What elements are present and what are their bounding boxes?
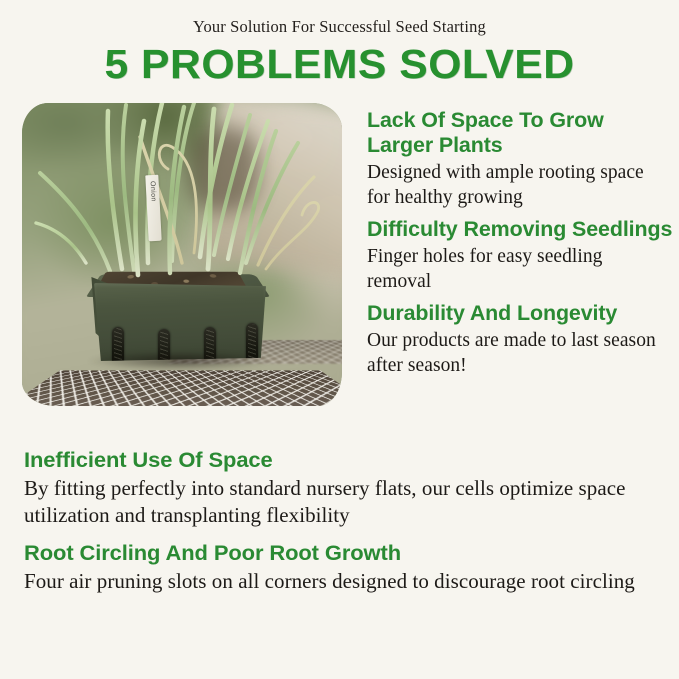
background-shadow [188,127,258,212]
benefit-heading: Root Circling And Poor Root Growth [24,540,673,566]
benefit-heading: Durability And Longevity [367,301,673,326]
benefit-body: Designed with ample rooting space for he… [367,160,667,210]
benefit-body: By fitting perfectly into standard nurse… [24,475,660,529]
eyebrow-tagline: Your Solution For Successful Seed Starti… [0,17,679,37]
cell-tray [80,253,276,375]
tray-front-face [94,283,266,361]
benefits-bottom-column: Inefficient Use Of Space By fitting perf… [24,447,660,606]
photo-frame: Onion [22,103,342,406]
benefit-body: Four air pruning slots on all corners de… [24,568,660,595]
benefit-item: Inefficient Use Of Space By fitting perf… [24,447,660,529]
benefit-heading: Lack Of Space To Grow Larger Plants [367,108,673,158]
benefit-item: Durability And Longevity Our products ar… [367,301,667,378]
header: Your Solution For Successful Seed Starti… [0,0,679,87]
product-photo: Onion [22,103,342,406]
page-title: 5 PROBLEMS SOLVED [0,41,679,87]
benefit-body: Our products are made to last season aft… [367,328,667,378]
benefit-heading: Inefficient Use Of Space [24,447,673,473]
tray-shadow [86,351,272,371]
bench-wire-mesh [22,370,342,406]
poster-canvas: Your Solution For Successful Seed Starti… [0,0,679,679]
benefit-item: Difficulty Removing Seedlings Finger hol… [367,217,667,294]
benefit-item: Root Circling And Poor Root Growth Four … [24,540,660,595]
benefit-heading: Difficulty Removing Seedlings [367,217,673,242]
plant-label-text: Onion [149,181,157,202]
benefit-item: Lack Of Space To Grow Larger Plants Desi… [367,108,667,210]
benefits-right-column: Lack Of Space To Grow Larger Plants Desi… [367,108,667,378]
benefit-body: Finger holes for easy seedling removal [367,244,667,294]
